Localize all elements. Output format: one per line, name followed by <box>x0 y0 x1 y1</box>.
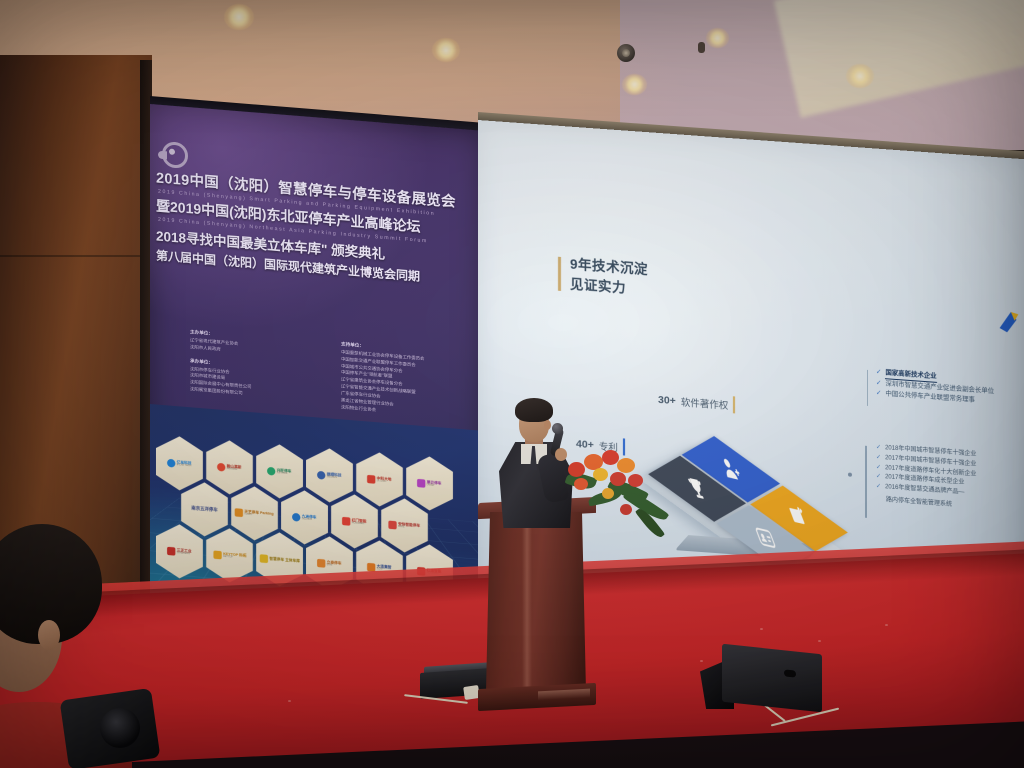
conference-stage-photo: 2019中国（沈阳）智慧停车与停车设备展览会 2019 China (Sheny… <box>0 0 1024 768</box>
sponsor-sub: E-CAR TECH <box>177 464 192 468</box>
stat-label: 软件著作权 <box>681 394 729 411</box>
check-icon: ✓ <box>876 454 881 462</box>
flower <box>620 504 632 515</box>
sponsor-mark-icon <box>292 512 300 521</box>
sponsor-mark-icon <box>235 508 243 517</box>
flower-arrangement <box>562 448 678 556</box>
check-icon: ✓ <box>876 474 881 482</box>
sponsor-name: 南京五洋停车 <box>191 505 217 513</box>
sponsor-hex: KEYTOP 科拓KEYTOP <box>206 527 253 585</box>
flower <box>568 462 585 477</box>
flower <box>574 478 588 490</box>
check-icon: ✓ <box>876 484 881 492</box>
certificate-icon <box>786 503 812 533</box>
downlight-icon <box>622 74 647 95</box>
downlight-icon <box>706 28 729 48</box>
organizer-column: 主办单位： 辽宁省现代建筑产业协会 沈阳市人民政府 承办单位： 沈阳市停车行业协… <box>190 329 319 409</box>
sponsor-sub: HONGMEN <box>352 522 367 526</box>
flower <box>610 472 626 486</box>
presenter-ear <box>544 420 551 430</box>
check-icon: ✓ <box>876 445 881 453</box>
sponsor-sub: PARKING <box>227 468 242 472</box>
sponsor-mark-icon <box>259 554 267 563</box>
check-icon: ✓ <box>876 369 881 378</box>
sponsor-sub: ZK DADI <box>377 480 392 484</box>
flower <box>617 458 635 473</box>
banner-emblem-icon <box>158 139 184 165</box>
check-icon: ✓ <box>876 464 881 472</box>
sponsor-sub: XW PARK <box>277 472 292 476</box>
sponsor-sub: LITAI <box>327 564 342 568</box>
sponsor-sub: SANZHENG <box>177 552 192 556</box>
microphone-head-icon <box>552 423 563 434</box>
carpet-speck <box>288 700 291 702</box>
award-connector-bar <box>865 446 867 518</box>
award-list: ✓ 2018年中国城市智慧停车十强企业 ✓ 2017年中国城市智慧停车十强企业 … <box>876 445 976 510</box>
sponsor-mark-icon <box>213 550 221 559</box>
check-icon: ✓ <box>876 389 881 398</box>
stage-monitor-speaker <box>700 645 840 713</box>
downlight-icon <box>224 4 254 30</box>
sponsor-mark-icon <box>389 520 397 529</box>
slide-title: 9年技术沉淀 见证实力 <box>570 255 648 301</box>
sponsor-sub: LAIBEI <box>427 484 442 488</box>
monitor-front <box>722 644 822 713</box>
title-accent-bar <box>558 257 561 291</box>
sponsor-mark-icon <box>167 458 175 467</box>
company-logo-icon <box>994 307 1024 339</box>
sponsor-mark-icon <box>367 562 375 571</box>
downlight-icon <box>846 64 874 88</box>
carpet-speck <box>885 624 888 626</box>
flower <box>602 488 614 499</box>
wall-seam <box>0 255 152 257</box>
flower <box>593 468 608 481</box>
sponsor-mark-icon <box>267 466 275 475</box>
support-column: 支持单位： 中国重型机械工业协会停车设备工作委员会 中国智能交通产业联盟停车工作… <box>341 341 470 421</box>
stat-number: 30+ <box>658 393 676 406</box>
trophy-icon <box>684 474 710 504</box>
cert-connector-bar <box>867 370 868 406</box>
podium-highlight <box>522 516 532 688</box>
audience-ear <box>38 620 60 650</box>
sprinkler-icon <box>617 44 635 62</box>
sponsor-mark-icon <box>317 470 325 479</box>
user-plus-icon <box>718 454 744 484</box>
sponsor-name: 智慧停车 立体车库 <box>269 557 299 563</box>
sponsor-sub: JIESHUN <box>327 476 342 480</box>
carpet-speck <box>760 628 763 630</box>
presenter-hair <box>515 398 553 422</box>
monitor-handle <box>784 669 796 677</box>
sponsor-mark-icon <box>317 558 325 567</box>
audience-member <box>0 524 172 768</box>
check-icon: ✓ <box>876 380 881 389</box>
sponsor-sub: JIUZHOU <box>302 518 317 522</box>
sponsor-mark-icon <box>217 462 225 471</box>
camera-lens-icon <box>100 708 140 748</box>
sponsor-mark-icon <box>342 516 350 525</box>
stat-tick <box>733 396 735 413</box>
ceiling-sensor-icon <box>698 42 705 53</box>
downlight-icon <box>432 38 460 62</box>
flower <box>628 474 643 487</box>
id-card-icon <box>752 522 779 553</box>
carpet-speck <box>818 640 821 642</box>
sponsor-mark-icon <box>417 478 425 487</box>
sponsor-mark-icon <box>367 474 375 483</box>
